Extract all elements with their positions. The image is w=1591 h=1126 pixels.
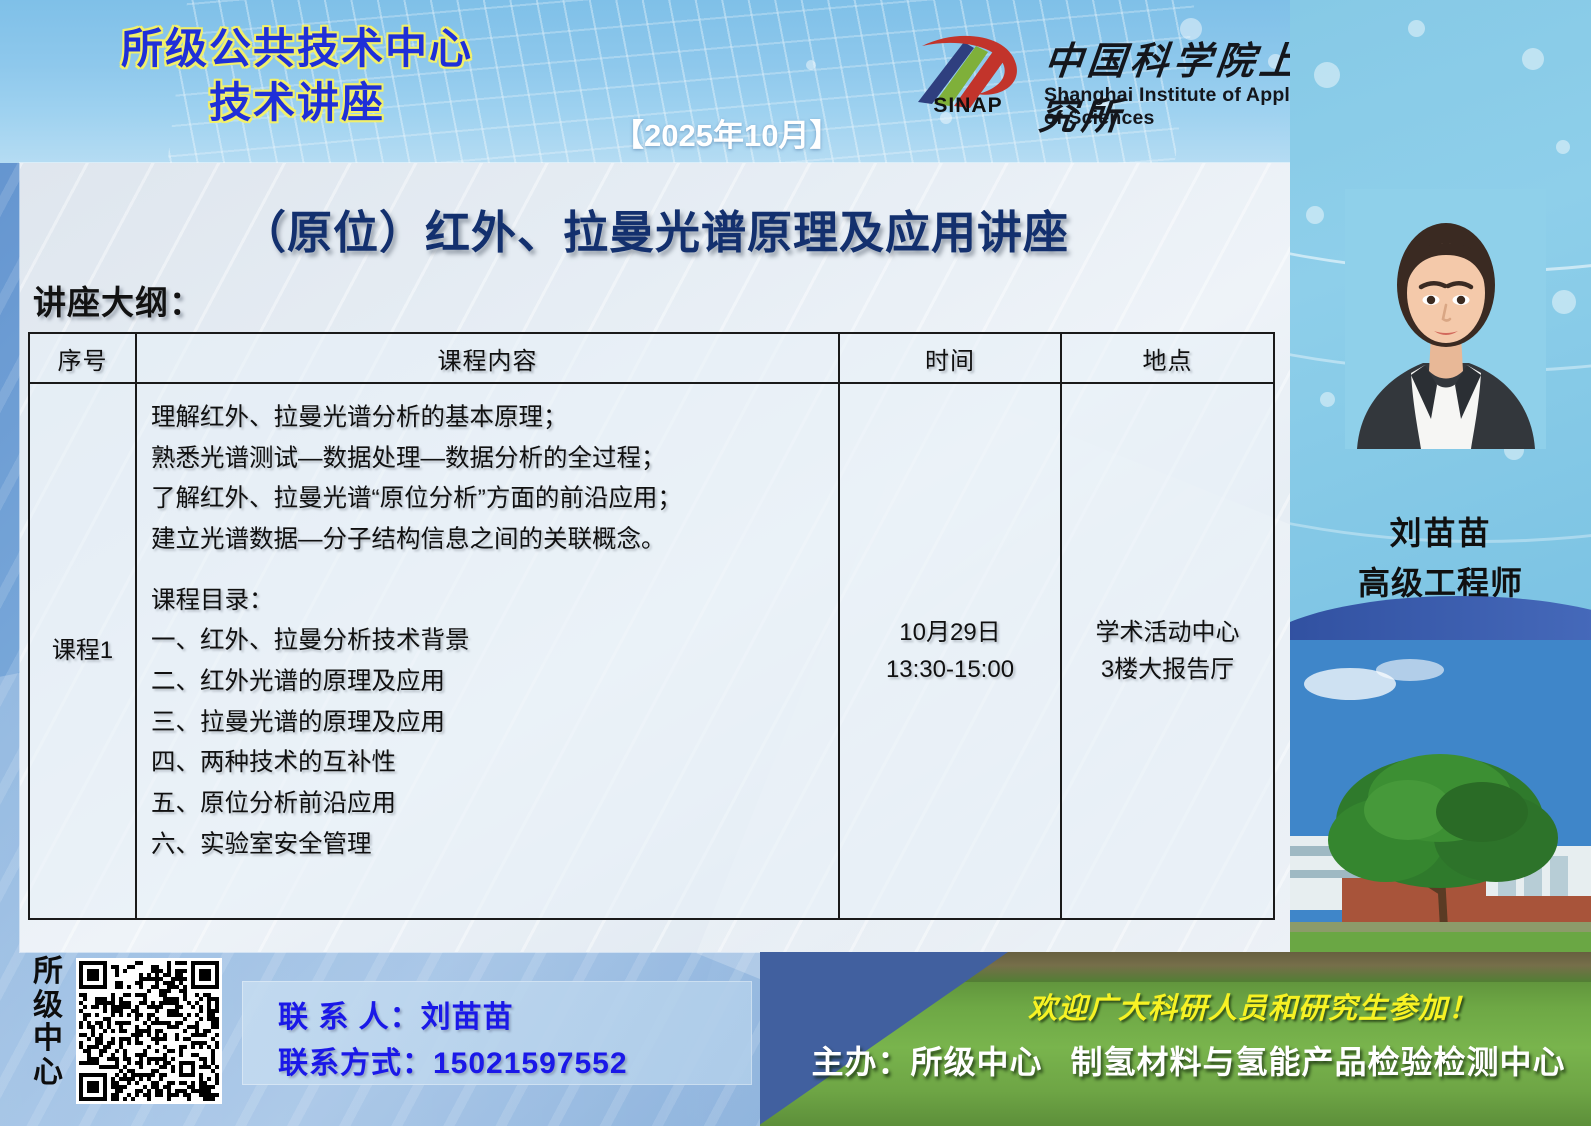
outline-label: 讲座大纲：	[33, 276, 203, 324]
host-line: 主办：所级中心制氢材料与氢能产品检验检测中心	[786, 1037, 1591, 1083]
banner-title: 所级公共技术中心 技术讲座	[62, 22, 532, 130]
place-line-2: 3楼大报告厅	[1096, 651, 1240, 688]
catalog-item: 一、红外、拉曼分析技术背景	[151, 621, 838, 662]
speaker-bubble	[1314, 62, 1340, 88]
table-cell-time: 10月29日 13:30-15:00	[838, 384, 1060, 918]
campus-photo	[1290, 640, 1591, 986]
table-cell-content: 理解红外、拉曼光谱分析的基本原理； 熟悉光谱测试—数据处理—数据分析的全过程； …	[135, 384, 838, 918]
course-index-label: 课程1	[30, 384, 135, 918]
table-header-cell-time: 时间	[838, 334, 1060, 382]
welcome-text: 欢迎广大科研人员和研究生参加！	[915, 985, 1591, 1027]
speaker-name: 刘苗苗	[1290, 508, 1591, 554]
course-time-range: 13:30-15:00	[886, 651, 1014, 688]
host-org-1: 所级中心	[910, 1044, 1042, 1080]
date-badge: 【2025年10月】	[613, 110, 840, 155]
poster-root: 所级公共技术中心 技术讲座 【2025年10月】 SINAP 中国科学院上海应用…	[0, 0, 1591, 1126]
table-header-label: 时间	[840, 334, 1060, 382]
banner-bubble	[806, 60, 816, 70]
host-label: 主办：	[811, 1044, 910, 1080]
course-content-block: 理解红外、拉曼光谱分析的基本原理； 熟悉光谱测试—数据处理—数据分析的全过程； …	[137, 384, 838, 865]
banner-title-line1: 所级公共技术中心	[62, 22, 532, 76]
page-title: （原位）红外、拉曼光谱原理及应用讲座	[20, 196, 1290, 261]
table-cell-index: 课程1	[30, 384, 135, 918]
contact-phone: 联系方式：15021597552	[278, 1038, 628, 1082]
course-date: 10月29日	[886, 614, 1014, 651]
speaker-portrait-image	[1345, 189, 1546, 449]
catalog-item: 六、实验室安全管理	[151, 825, 838, 866]
catalog-item: 五、原位分析前沿应用	[151, 784, 838, 825]
campus-photo-image	[1290, 640, 1591, 986]
objective-line: 理解红外、拉曼光谱分析的基本原理；	[151, 398, 838, 439]
table-header-row: 序号 课程内容 时间 地点	[30, 334, 1273, 384]
catalog-item: 二、红外光谱的原理及应用	[151, 662, 838, 703]
table-header-cell-content: 课程内容	[135, 334, 838, 382]
contact-person: 联 系 人：刘苗苗	[278, 992, 514, 1036]
speaker-bubble	[1556, 140, 1570, 154]
objective-line: 建立光谱数据—分子结构信息之间的关联概念。	[151, 520, 838, 561]
objective-line: 熟悉光谱测试—数据处理—数据分析的全过程；	[151, 439, 838, 480]
objective-line: 了解红外、拉曼光谱“原位分析”方面的前沿应用；	[151, 479, 838, 520]
table-row: 课程1 理解红外、拉曼光谱分析的基本原理； 熟悉光谱测试—数据处理—数据分析的全…	[30, 384, 1273, 918]
contact-box: 联 系 人：刘苗苗 联系方式：15021597552	[242, 981, 752, 1085]
banner-title-line2: 技术讲座	[62, 76, 532, 130]
table-header-cell-index: 序号	[30, 334, 135, 382]
speaker-bubble	[1522, 48, 1544, 70]
course-time: 10月29日 13:30-15:00	[840, 384, 1060, 918]
lawn-footer: 欢迎广大科研人员和研究生参加！ 主办：所级中心制氢材料与氢能产品检验检测中心	[760, 952, 1591, 1126]
sinap-acronym: SINAP	[918, 94, 1018, 118]
table-cell-place: 学术活动中心 3楼大报告厅	[1060, 384, 1273, 918]
qr-code[interactable]	[76, 958, 222, 1104]
course-place: 学术活动中心 3楼大报告厅	[1062, 384, 1273, 918]
catalog-label: 课程目录：	[151, 581, 838, 622]
course-table: 序号 课程内容 时间 地点 课程1 理解红外、拉曼光谱分析的基	[28, 332, 1275, 920]
table-header-label: 课程内容	[137, 334, 838, 382]
table-header-label: 地点	[1062, 334, 1273, 382]
speaker-bubble	[1306, 206, 1324, 224]
table-header-label: 序号	[30, 334, 135, 382]
content-spacer	[151, 561, 838, 581]
place-line-1: 学术活动中心	[1096, 614, 1240, 651]
speaker-bubble	[1408, 20, 1425, 37]
speaker-bubble	[1320, 392, 1335, 407]
main-panel: （原位）红外、拉曼光谱原理及应用讲座 讲座大纲： 序号 课程内容 时间 地点	[20, 163, 1290, 952]
speaker-portrait	[1345, 189, 1546, 449]
catalog-item: 四、两种技术的互补性	[151, 743, 838, 784]
table-header-cell-place: 地点	[1060, 334, 1273, 382]
qr-label: 所级中心	[26, 955, 70, 1089]
host-org-2: 制氢材料与氢能产品检验检测中心	[1071, 1044, 1566, 1080]
catalog-item: 三、拉曼光谱的原理及应用	[151, 703, 838, 744]
speaker-bubble	[1552, 290, 1576, 314]
